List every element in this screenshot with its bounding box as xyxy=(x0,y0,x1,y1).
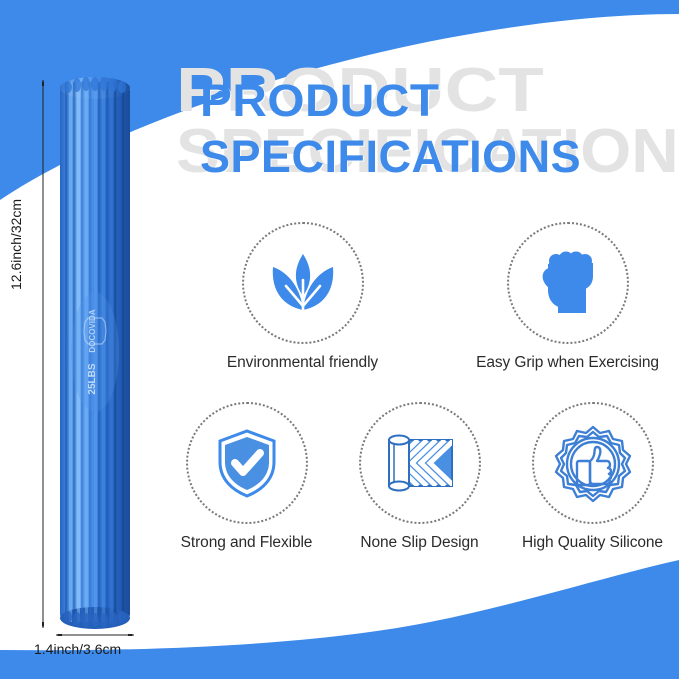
title-front-text: PRODUCT SPECIFICATIONS xyxy=(200,80,670,179)
rolled-mat-chevron-icon xyxy=(380,424,460,502)
width-dimension-line xyxy=(56,634,134,636)
height-dimension-label: 12.6inch/32cm xyxy=(8,199,24,290)
feature-label: Easy Grip when Exercising xyxy=(476,354,659,372)
feature-row-top: Environmental friendly xyxy=(215,222,655,372)
feature-row-bottom: Strong and Flexible xyxy=(160,402,679,552)
feature-label: High Quality Silicone xyxy=(522,534,663,552)
product-image: DOCOVIDA 25LBS xyxy=(58,72,132,632)
height-dimension-line xyxy=(42,80,44,628)
massage-roller-stick xyxy=(58,72,132,632)
feature-easy-grip: Easy Grip when Exercising xyxy=(480,222,655,372)
feature-icon-circle xyxy=(242,222,364,344)
feature-label: None Slip Design xyxy=(360,534,478,552)
feature-none-slip-design: None Slip Design xyxy=(333,402,506,552)
quality-seal-thumbs-up-icon xyxy=(553,423,633,503)
feature-environmental-friendly: Environmental friendly xyxy=(215,222,390,372)
feature-label: Environmental friendly xyxy=(227,354,378,372)
leaf-plant-icon xyxy=(264,244,342,322)
feature-label: Strong and Flexible xyxy=(181,534,313,552)
feature-icon-circle xyxy=(359,402,481,524)
page-title: PRODUCT SPECIFICATIONS PRODUCT SPECIFICA… xyxy=(176,62,646,202)
feature-grid: Environmental friendly xyxy=(160,222,679,582)
feature-icon-circle xyxy=(532,402,654,524)
feature-icon-circle xyxy=(507,222,629,344)
feature-strong-flexible: Strong and Flexible xyxy=(160,402,333,552)
title-line-2: SPECIFICATIONS xyxy=(200,136,670,179)
feature-icon-circle xyxy=(186,402,308,524)
product-specifications-infographic: PRODUCT SPECIFICATIONS PRODUCT SPECIFICA… xyxy=(0,0,679,679)
shield-check-icon xyxy=(208,424,286,502)
width-dimension-label: 1.4inch/3.6cm xyxy=(34,641,121,657)
fist-grip-icon xyxy=(529,244,607,322)
feature-high-quality-silicone: High Quality Silicone xyxy=(506,402,679,552)
title-line-1: PRODUCT xyxy=(200,80,679,123)
